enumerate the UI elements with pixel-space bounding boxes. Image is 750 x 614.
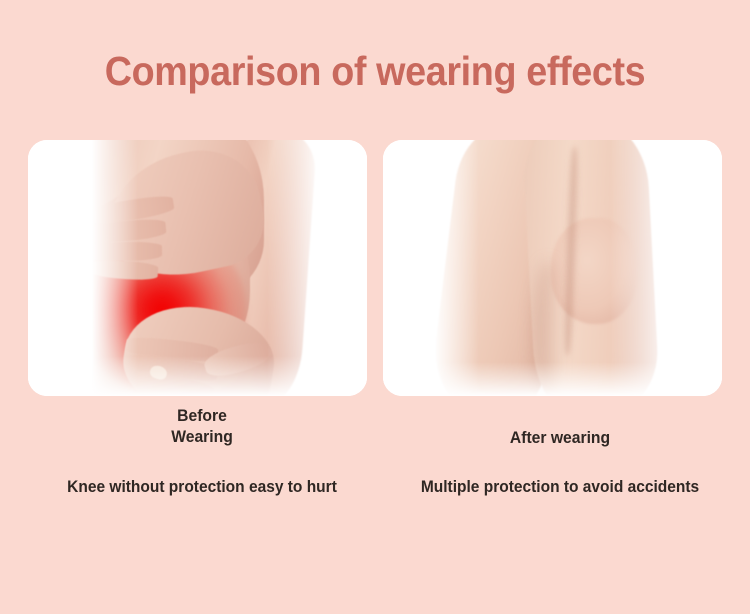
photo-fade-right: [610, 140, 722, 396]
before-description: Knee without protection easy to hurt: [33, 476, 371, 498]
after-heading-line1: After wearing: [510, 429, 610, 447]
before-image-card: [28, 140, 367, 396]
before-photo: [28, 140, 367, 396]
comparison-page: Comparison of wearing effects: [0, 0, 750, 614]
page-title: Comparison of wearing effects: [30, 48, 720, 94]
photo-fade-bottom: [383, 362, 722, 396]
after-heading: After wearing: [389, 406, 731, 449]
after-description: Multiple protection to avoid accidents: [391, 476, 729, 498]
before-caption-column: Before Wearing Knee without protection e…: [22, 406, 382, 516]
comparison-captions: Before Wearing Knee without protection e…: [0, 406, 750, 516]
comparison-cards: [28, 140, 722, 396]
after-image-card: [383, 140, 722, 396]
before-heading: Before Wearing: [31, 406, 373, 448]
before-heading-line1: Before: [177, 407, 227, 425]
photo-fade-left: [383, 140, 479, 396]
after-photo: [383, 140, 722, 396]
before-heading-line2: Wearing: [31, 427, 373, 448]
after-caption-column: After wearing Multiple protection to avo…: [380, 406, 740, 516]
photo-fade-bottom: [28, 356, 367, 396]
